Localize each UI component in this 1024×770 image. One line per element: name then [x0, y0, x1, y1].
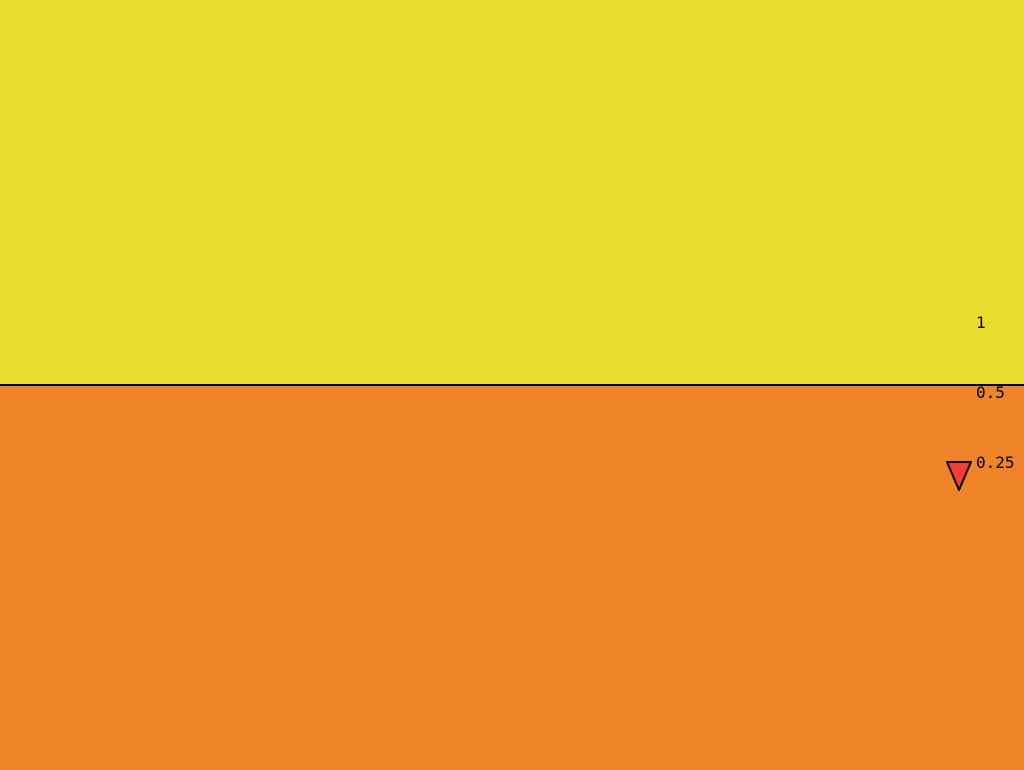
colorbar-below-arrow [946, 461, 972, 491]
colorbar-tick-label: 0.25 [976, 453, 1015, 472]
colorbar [0, 579, 26, 719]
colorbar-segment [0, 0, 1024, 384]
colorbar-tick-label: 1 [976, 313, 986, 332]
colorbar-segment [0, 384, 1024, 770]
colorbar-tick-label: 0.5 [976, 383, 1005, 402]
